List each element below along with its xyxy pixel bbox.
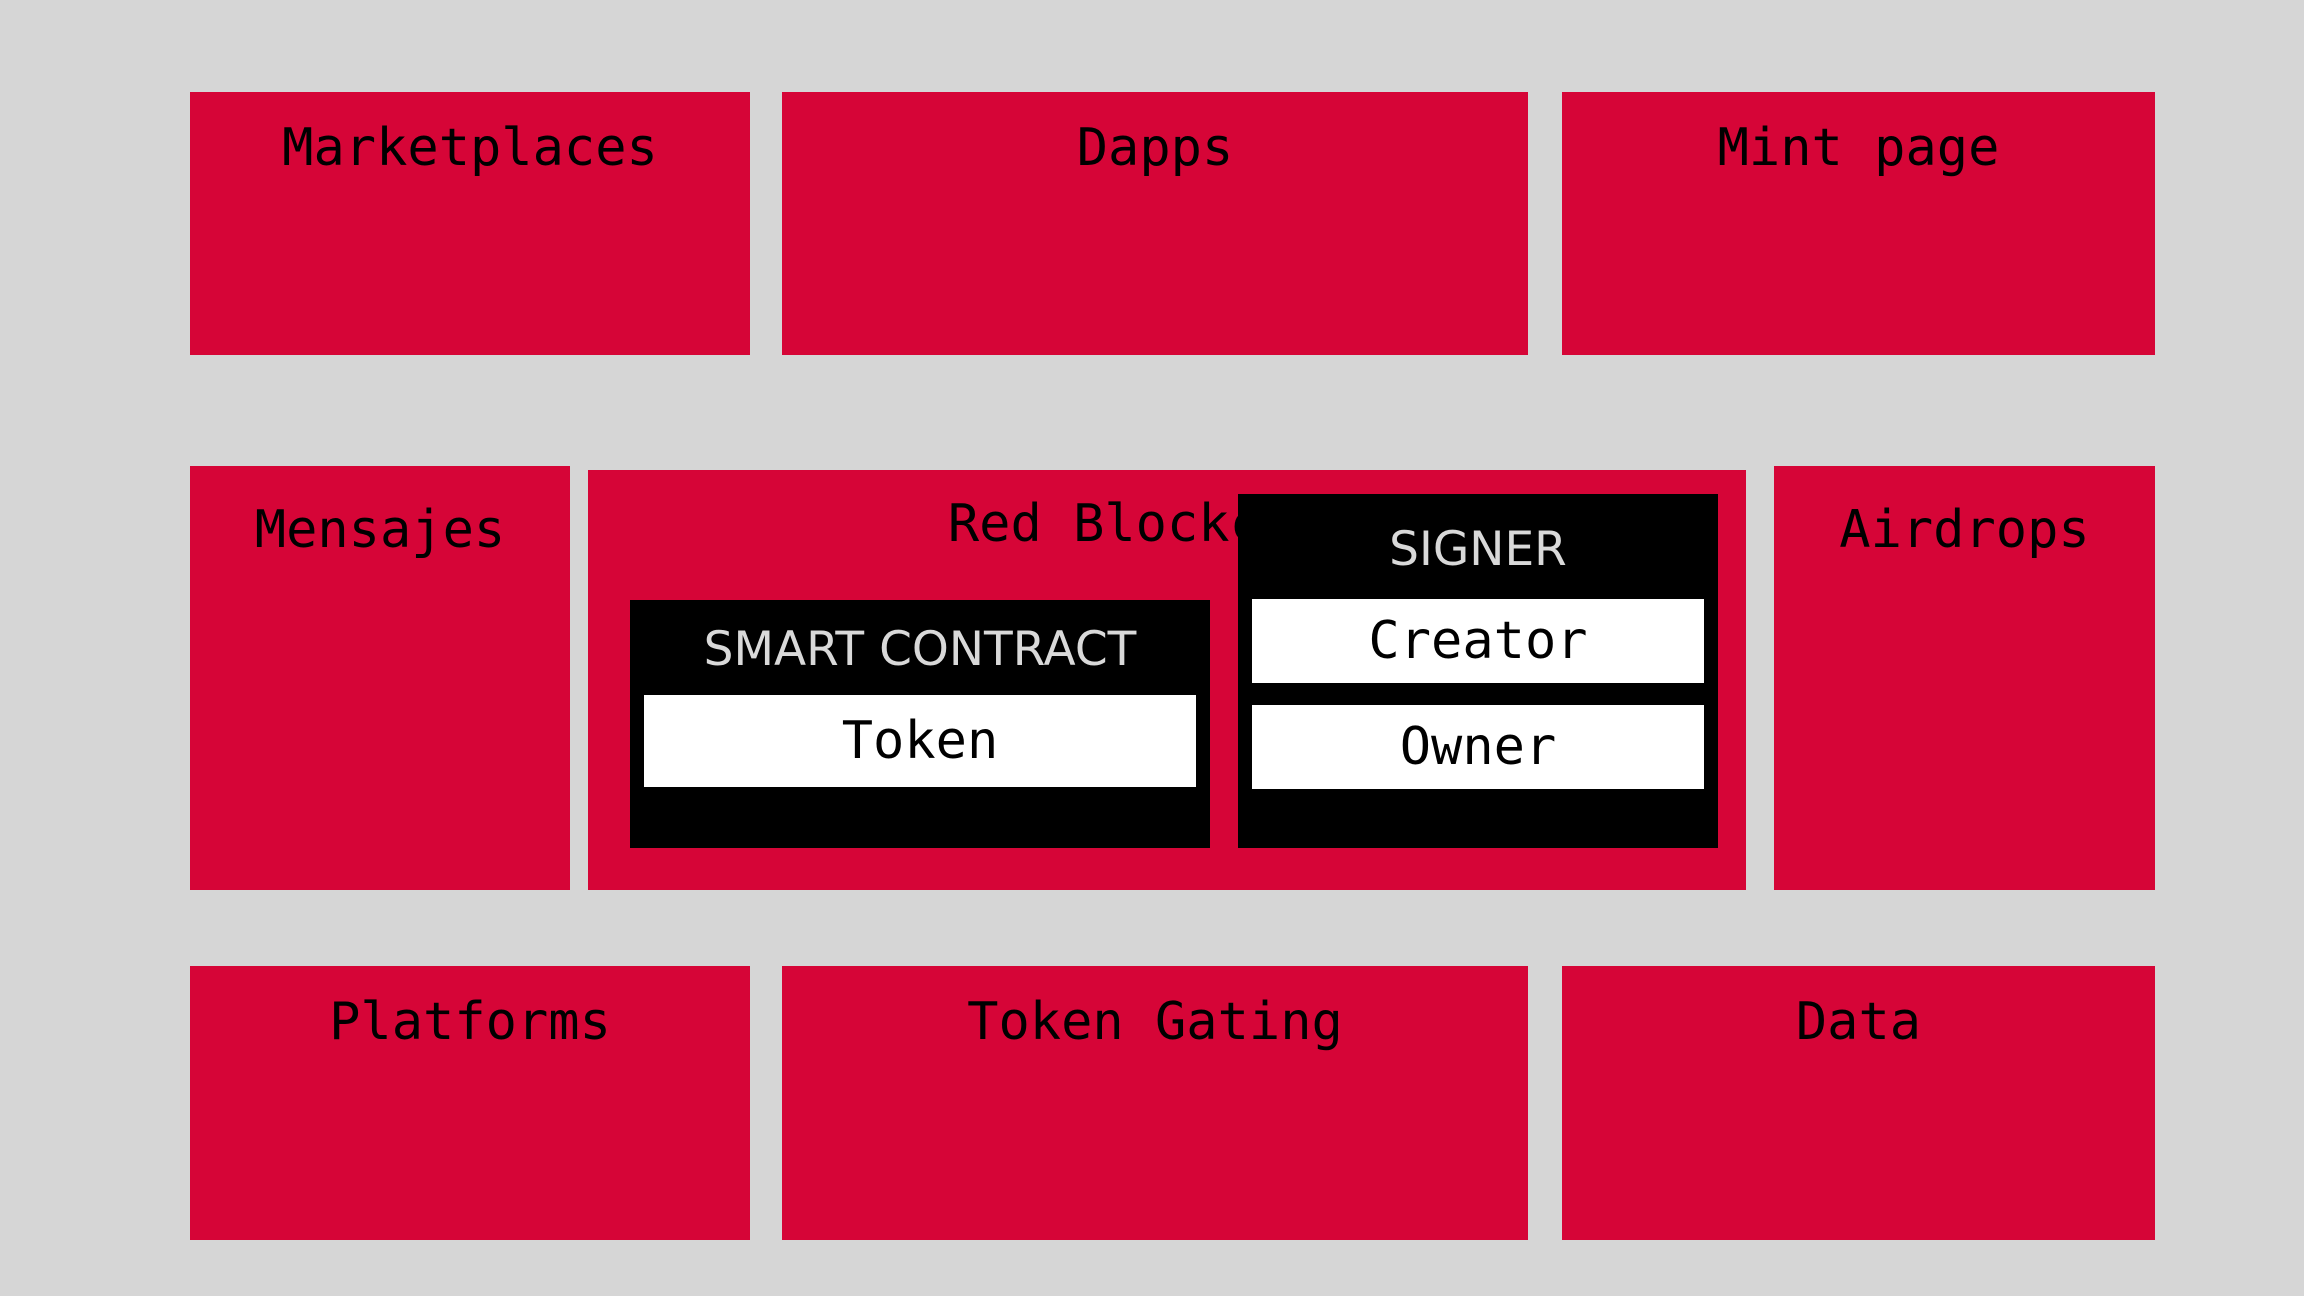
panel-token-gating[interactable]: Token Gating [782, 966, 1528, 1240]
panel-marketplaces[interactable]: Marketplaces [190, 92, 750, 355]
module-smart-contract[interactable]: SMART CONTRACT Token [630, 600, 1210, 848]
diagram-canvas: Marketplaces Dapps Mint page Mensajes Re… [0, 0, 2304, 1296]
panel-mint-page[interactable]: Mint page [1562, 92, 2155, 355]
module-slot-creator[interactable]: Creator [1252, 599, 1704, 683]
module-signer-title: SIGNER [1252, 526, 1704, 573]
panel-platforms[interactable]: Platforms [190, 966, 750, 1240]
panel-mint-page-label: Mint page [1562, 92, 2155, 174]
module-slot-owner-label: Owner [1400, 721, 1557, 773]
panel-data-label: Data [1562, 966, 2155, 1048]
module-slot-token[interactable]: Token [644, 695, 1196, 787]
panel-dapps[interactable]: Dapps [782, 92, 1528, 355]
panel-mensajes-label: Mensajes [190, 466, 570, 556]
panel-platforms-label: Platforms [190, 966, 750, 1048]
module-slot-token-label: Token [842, 715, 999, 767]
panel-token-gating-label: Token Gating [782, 966, 1528, 1048]
module-signer[interactable]: SIGNER Creator Owner [1238, 494, 1718, 848]
panel-mensajes[interactable]: Mensajes [190, 466, 570, 890]
panel-data[interactable]: Data [1562, 966, 2155, 1240]
panel-airdrops-label: Airdrops [1774, 466, 2155, 556]
module-slot-owner[interactable]: Owner [1252, 705, 1704, 789]
panel-dapps-label: Dapps [782, 92, 1528, 174]
panel-marketplaces-label: Marketplaces [190, 92, 750, 174]
panel-airdrops[interactable]: Airdrops [1774, 466, 2155, 890]
module-smart-contract-title: SMART CONTRACT [644, 626, 1196, 673]
module-slot-creator-label: Creator [1368, 615, 1587, 667]
